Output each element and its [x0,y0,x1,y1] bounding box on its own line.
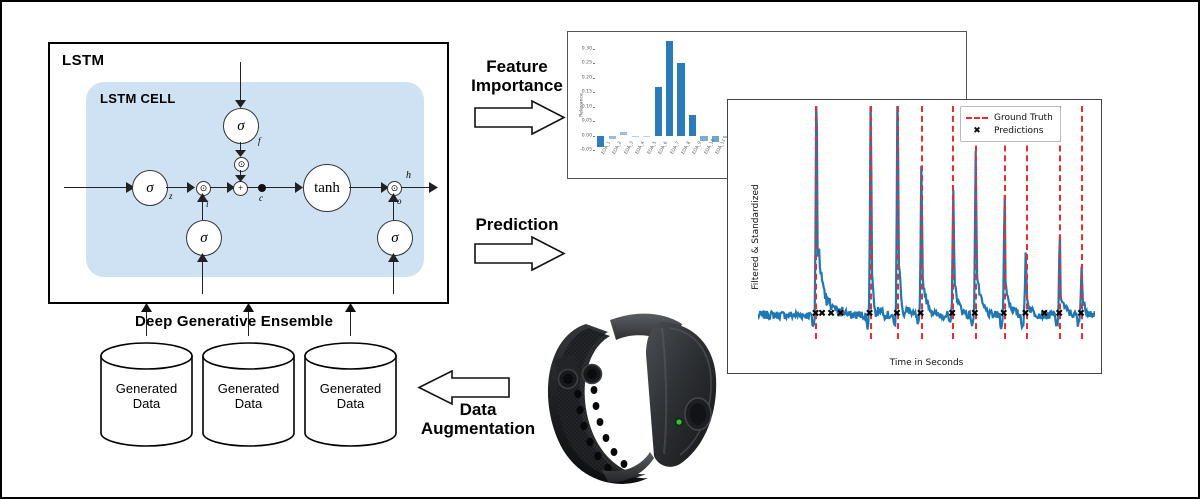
prediction-marker: ✖ [827,308,835,319]
legend-label: Ground Truth [994,113,1053,123]
ground-truth-line [921,106,923,339]
ground-truth-line [815,106,817,339]
forget-input-line [240,62,241,102]
bar [597,136,604,148]
cylinder-label: Generated Data [201,382,296,412]
gate-label-z: z [169,191,173,201]
bar-chart-x-tick-label: EDA_5 [647,141,658,156]
bar-chart-y-tick-label: 0.05 [582,119,592,124]
generated-data-cylinder-1: Generated Data [99,342,194,447]
prediction-marker: ✖ [1040,308,1048,319]
bar-chart-x-tick-label: EDA_3 [624,141,635,156]
generated-data-cylinder-2: Generated Data [201,342,296,447]
bar-chart-y-tick-mark [593,63,595,64]
bar-chart-x-tick-label: EDA_2 [612,141,623,156]
prediction-marker: ✖ [865,308,873,319]
prediction-y-axis-label: Filtered & Standardized [751,162,761,312]
feature-importance-arrow [474,100,566,136]
mult-op-forget: ⊙ [234,157,249,172]
smartwatch-illustration [524,302,739,494]
bar-chart-x-tick-label: EDA_7 [670,141,681,156]
gate-label-h: h [406,170,411,181]
prediction-legend: Ground Truth ✖ Predictions [960,106,1061,142]
db2-arrowhead [243,303,254,312]
bar-chart-y-tick-mark [593,121,595,122]
cylinder-label-line2: Data [99,397,194,412]
prediction-callout-label: Prediction [457,215,577,234]
o-bottom-arrowhead [388,253,399,262]
bar [712,136,719,143]
legend-entry-ground-truth: Ground Truth [966,111,1053,124]
bar-chart-y-tick-mark [593,49,595,50]
bar-chart-x-tick-label: EDA_6 [658,141,669,156]
bar-chart-y-tick-mark [593,107,595,108]
bar-chart-x-tick-label: EDA_9 [692,141,703,156]
ground-truth-line [1081,106,1083,339]
bar-chart-y-tick-mark [593,78,595,79]
bar [643,136,650,137]
sigma-node-o: σ [377,220,413,256]
bar [609,136,616,139]
bar-chart-y-tick-label: 0.20 [582,75,592,80]
prediction-chart: ✖✖✖✖✖✖✖✖✖✖✖✖✖✖246002004006008001000 Filt… [727,99,1102,374]
bar-chart-y-tick-mark [593,92,595,93]
callout-line1: Prediction [457,215,577,234]
led-indicator [676,419,681,424]
bar-chart-y-tick-label: -0.05 [580,148,592,153]
db3-arrowhead [345,303,356,312]
i-bottom-arrowhead [197,253,208,262]
input-line [64,187,130,188]
o-up-arrowhead [388,193,399,202]
prediction-marker: ✖ [916,308,924,319]
callout-line1: Feature [457,57,577,76]
bar-chart-x-tick-label: EDA_8 [681,141,692,156]
prediction-x-axis-label: Time in Seconds [758,358,1095,368]
sigma-node-i: σ [186,220,222,256]
bar [620,132,627,135]
sigma-node-f: σ [223,108,259,144]
cell-state-junction [258,184,266,192]
legend-label: Predictions [994,126,1043,136]
bar-chart-y-tick-label: 0.00 [582,133,592,138]
cell-state-line [247,187,301,188]
db1-arrowhead [141,303,152,312]
prediction-marker: ✖ [1077,308,1085,319]
forget-add-arrowhead [235,175,246,183]
prediction-marker: ✖ [893,308,901,319]
cylinder-label-line2: Data [201,397,296,412]
bar-chart-y-tick-mark [593,136,595,137]
gate-label-f: f [258,136,261,146]
deep-generative-ensemble-label: Deep Generative Ensemble [135,313,333,330]
callout-line2: Importance [457,76,577,95]
bar [655,87,662,136]
bar-chart-y-tick-label: 0.10 [582,104,592,109]
prediction-marker: ✖ [948,308,956,319]
cylinder-label-line2: Data [303,397,398,412]
bar [689,115,696,136]
prediction-marker: ✖ [1000,308,1008,319]
z-arrowhead [187,182,196,193]
cylinder-label-line1: Generated [201,382,296,397]
x-marker-icon: ✖ [966,126,988,136]
bar-chart-y-tick-label: 0.15 [582,90,592,95]
bar [632,136,639,137]
gate-label-c: c [259,193,263,203]
bar-chart-y-tick-label: 0.25 [582,61,592,66]
prediction-arrow [474,236,566,272]
bar-chart-y-tick-label: 0.30 [582,46,592,51]
add-op-cell: + [233,181,248,196]
ground-truth-line [952,106,954,339]
sigma-node-z: σ [132,170,168,206]
ground-truth-line [870,106,872,339]
figure-canvas: LSTM LSTM CELL σ z ⊙ i + c tanh [0,0,1200,499]
cylinder-label-line1: Generated [303,382,398,397]
bar [700,136,707,142]
bar [666,41,673,135]
cylinder-label: Generated Data [99,382,194,412]
prediction-marker: ✖ [971,308,979,319]
lstm-cell-title: LSTM CELL [100,91,176,106]
i-up-arrowhead [197,193,208,202]
generated-data-cylinder-3: Generated Data [303,342,398,447]
prediction-marker: ✖ [1021,308,1029,319]
ground-truth-line [897,106,899,339]
bar-chart-y-tick-mark [593,150,595,151]
smartwatch-image [524,302,739,494]
legend-entry-predictions: ✖ Predictions [966,124,1053,137]
prediction-marker: ✖ [1055,308,1063,319]
bar-chart-x-tick-label: EDA_4 [635,141,646,156]
prediction-marker: ✖ [818,308,826,319]
cylinder-label-line1: Generated [99,382,194,397]
hidden-arrowhead [429,182,439,193]
dashed-line-icon [966,117,988,119]
lstm-title: LSTM [62,52,104,69]
prediction-marker: ✖ [836,308,844,319]
cylinder-label: Generated Data [303,382,398,412]
bar [677,63,684,135]
tanh-node: tanh [303,164,351,212]
lstm-outer-box: LSTM LSTM CELL σ z ⊙ i + c tanh [48,42,449,304]
feature-importance-callout-label: Feature Importance [457,57,577,95]
